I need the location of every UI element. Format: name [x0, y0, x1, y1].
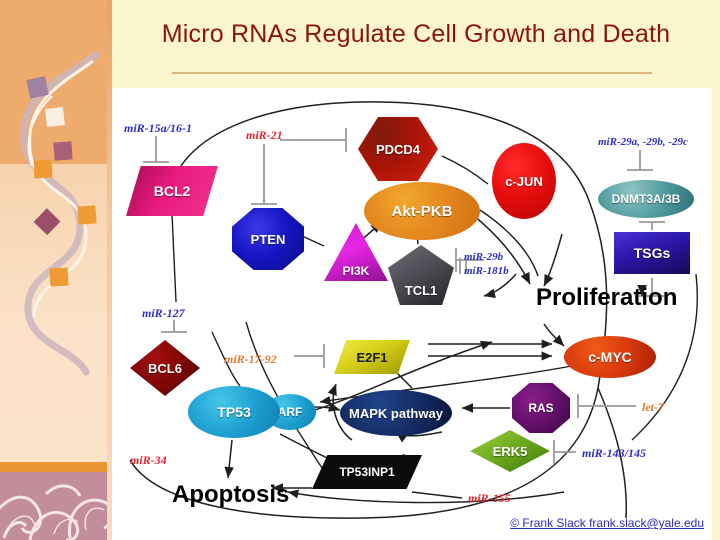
mirna-label-mir-34: miR-34: [130, 453, 167, 468]
node-e2f1[interactable]: E2F1: [334, 340, 410, 374]
mirna-label-mir-29b: miR-29b: [464, 251, 503, 263]
node-ras[interactable]: RAS: [512, 383, 570, 433]
sidebar-ribbon-icon: [0, 0, 112, 470]
mirna-label-mir-15a-16-1: miR-15a/16-1: [124, 121, 192, 136]
slide-header: Micro RNAs Regulate Cell Growth and Deat…: [112, 0, 720, 88]
author-credit[interactable]: © Frank Slack frank.slack@yale.edu: [112, 516, 712, 530]
slide-title: Micro RNAs Regulate Cell Growth and Deat…: [112, 20, 720, 49]
mirna-label-mir-155: miR-155: [468, 491, 511, 506]
sidebar-paisley-pattern: [0, 472, 112, 540]
mirna-label-mir-143-145: miR-143/145: [582, 446, 646, 461]
mirna-label-mir-127: miR-127: [142, 306, 185, 321]
mirna-label-mir-17-92: miR-17-92: [224, 352, 277, 367]
title-underline-rule: [172, 72, 652, 74]
mirna-label-mir-29a-b-c: miR-29a, -29b, -29c: [598, 136, 688, 148]
node-c-jun[interactable]: c-JUN: [492, 143, 556, 219]
node-tsgs[interactable]: TSGs: [614, 232, 690, 274]
outcome-apoptosis: Apoptosis: [172, 481, 289, 509]
outcome-proliferation: Proliferation: [536, 284, 677, 312]
template-sidebar-decoration: [0, 0, 112, 540]
paisley-swirl-icon: [0, 472, 112, 540]
mirna-label-let-7: let-7: [642, 400, 664, 415]
node-tp53inp1[interactable]: TP53INP1: [312, 455, 422, 489]
pathway-diagram: BCL2 PTEN PI3K PDCD4 Akt-PKB TCL1 c-JUN …: [112, 88, 712, 540]
mirna-label-mir-181b: miR-181b: [464, 265, 509, 277]
right-edge-band: [712, 0, 720, 540]
node-bcl2[interactable]: BCL2: [126, 166, 218, 216]
node-akt-pkb[interactable]: Akt-PKB: [364, 182, 480, 240]
mirna-label-mir-21: miR-21: [246, 128, 283, 143]
slide-canvas: Micro RNAs Regulate Cell Growth and Deat…: [0, 0, 720, 540]
node-mapk-pathway[interactable]: MAPK pathway: [340, 390, 452, 436]
node-tp53[interactable]: TP53: [188, 386, 280, 438]
node-c-myc[interactable]: c-MYC: [564, 336, 656, 378]
node-dnmt3a-3b[interactable]: DNMT3A/3B: [598, 180, 694, 218]
